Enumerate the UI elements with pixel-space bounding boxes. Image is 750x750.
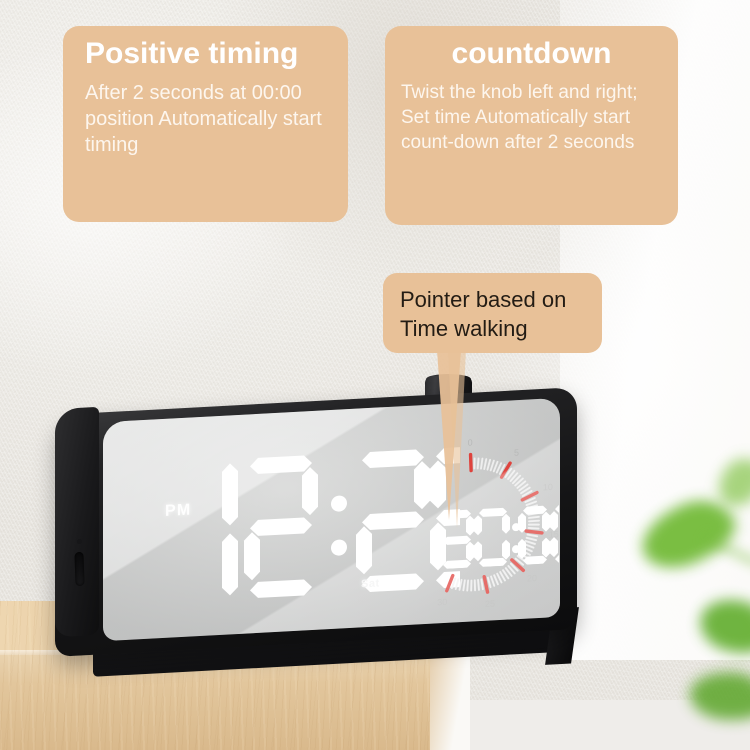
mirror-display-screen[interactable]: PM	[103, 398, 560, 641]
usb-c-port-icon[interactable]	[74, 552, 84, 587]
callout-positive-timing: Positive timing After 2 seconds at 00:00…	[63, 26, 348, 222]
pointer-callout-tail-inner	[448, 350, 466, 528]
alarm-clock-device: PM	[55, 372, 585, 672]
callout-pointer: Pointer based on Time walking	[383, 273, 602, 353]
callout-title: Pointer based on Time walking	[400, 286, 602, 343]
screen-reflection-lower	[103, 398, 560, 641]
callout-description: Twist the knob left and right; Set time …	[401, 80, 662, 155]
callout-countdown: countdown Twist the knob left and right;…	[385, 26, 678, 225]
callout-title: Positive timing	[85, 38, 328, 70]
clock-left-side-face	[55, 407, 99, 637]
callout-title: countdown	[401, 38, 662, 70]
callout-description: After 2 seconds at 00:00 position Automa…	[85, 80, 328, 159]
infographic-scene: PM	[0, 0, 750, 750]
